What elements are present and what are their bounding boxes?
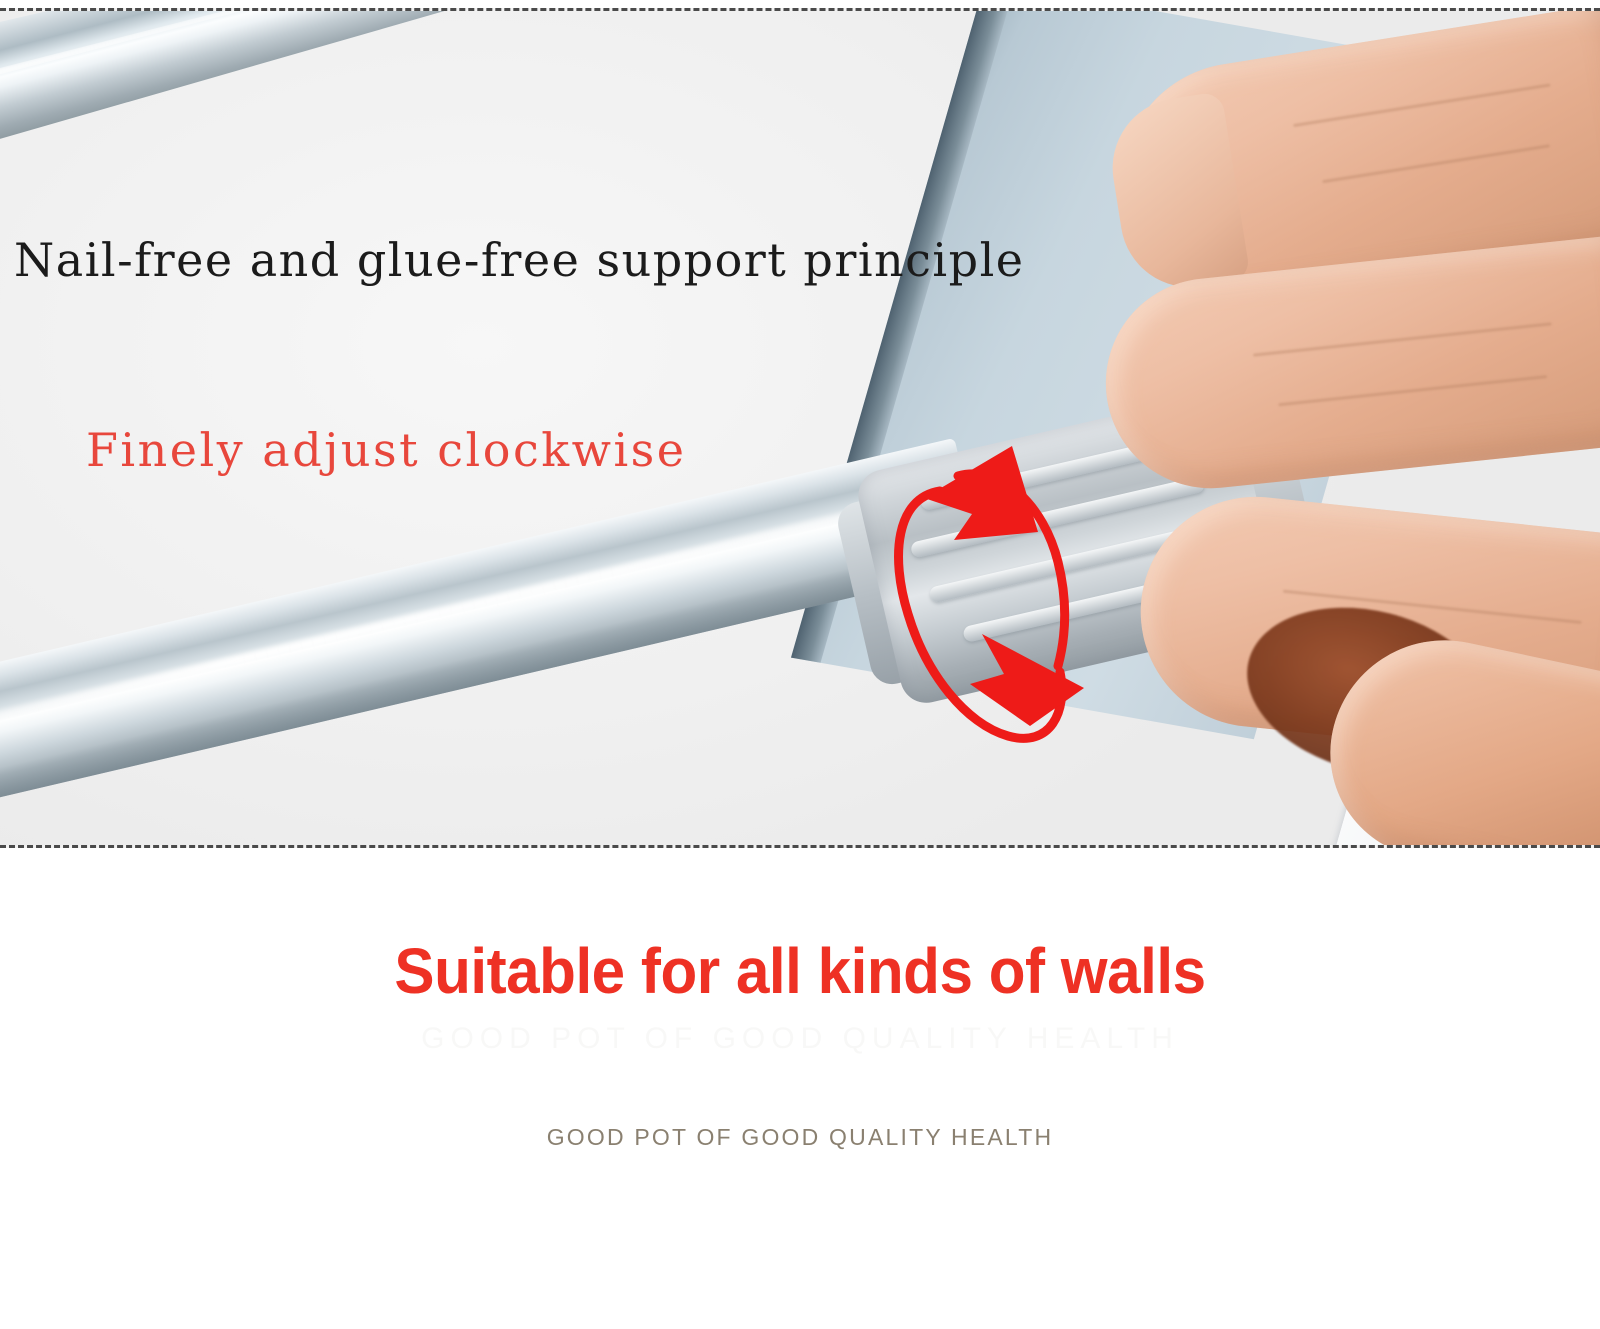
product-detail-page: Nail-free and glue-free support principl… <box>0 0 1600 1329</box>
product-photo-panel: Nail-free and glue-free support principl… <box>0 8 1600 848</box>
skin-crease <box>1253 322 1552 356</box>
background-watermark: GOOD POT OF GOOD QUALITY HEALTH <box>0 1022 1600 1056</box>
section-heading: Suitable for all kinds of walls <box>48 934 1552 1008</box>
caption-secondary: Finely adjust clockwise <box>86 423 687 477</box>
skin-crease <box>1293 83 1550 127</box>
brand-tagline: GOOD POT OF GOOD QUALITY HEALTH <box>0 1124 1600 1151</box>
caption-primary: Nail-free and glue-free support principl… <box>14 233 1025 287</box>
bottom-section: GOOD POT OF GOOD QUALITY HEALTH Suitable… <box>0 852 1600 1329</box>
skin-crease <box>1322 144 1550 183</box>
skin-crease <box>1278 375 1547 406</box>
